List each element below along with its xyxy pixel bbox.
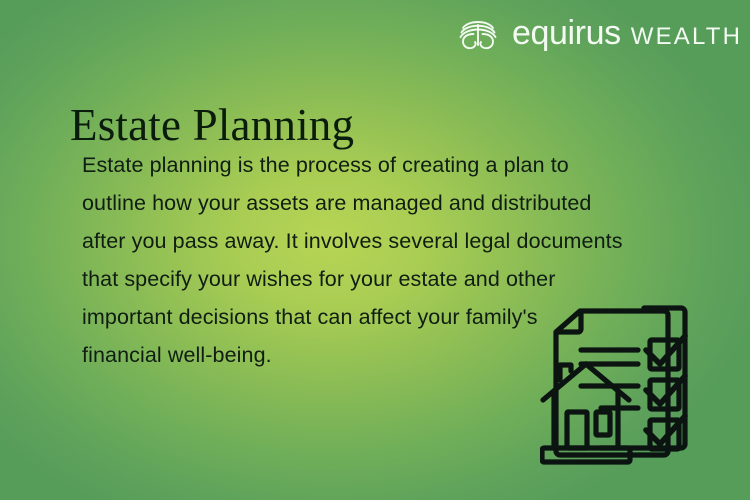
brand-wordmark: equirus WEALTH: [512, 16, 742, 50]
house-window: [596, 412, 610, 435]
body-line: Estate planning is the process of creati…: [82, 146, 672, 184]
brand-name-primary: equirus: [512, 16, 621, 50]
body-line: after you pass away. It involves several…: [82, 222, 672, 260]
estate-planning-poster: equirus WEALTH Estate Planning Estate pl…: [0, 0, 750, 500]
equirus-banyan-tree-logo-icon: [455, 12, 501, 54]
brand-name-secondary: WEALTH: [631, 25, 742, 49]
estate-checklist-and-house-illustration: [540, 292, 725, 470]
body-line: outline how your assets are managed and …: [82, 184, 672, 222]
brand-logo[interactable]: equirus WEALTH: [455, 10, 742, 56]
page-title: Estate Planning: [70, 100, 354, 152]
house-door: [567, 412, 587, 448]
